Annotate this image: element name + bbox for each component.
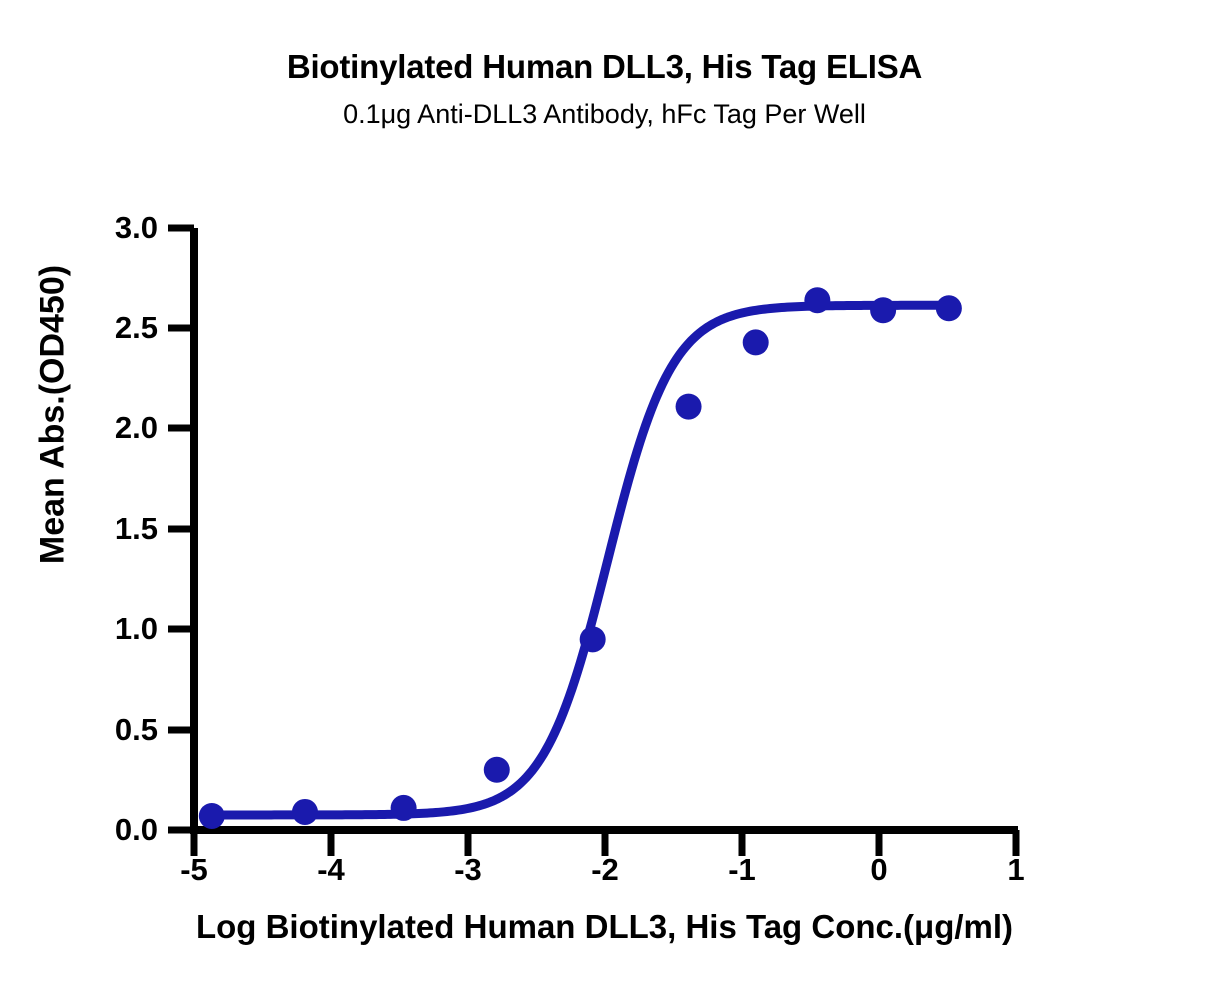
data-point — [676, 394, 702, 420]
data-point — [484, 757, 510, 783]
data-point — [199, 803, 225, 829]
data-point-group — [199, 287, 962, 829]
data-point — [804, 287, 830, 313]
data-point — [936, 295, 962, 321]
plot-area — [0, 0, 1209, 1004]
data-point — [292, 799, 318, 825]
data-point — [580, 626, 606, 652]
data-point — [391, 795, 417, 821]
dose-response-curve — [212, 305, 949, 815]
data-point — [870, 297, 896, 323]
elisa-chart-figure: Biotinylated Human DLL3, His Tag ELISA 0… — [0, 0, 1209, 1004]
data-point — [743, 329, 769, 355]
